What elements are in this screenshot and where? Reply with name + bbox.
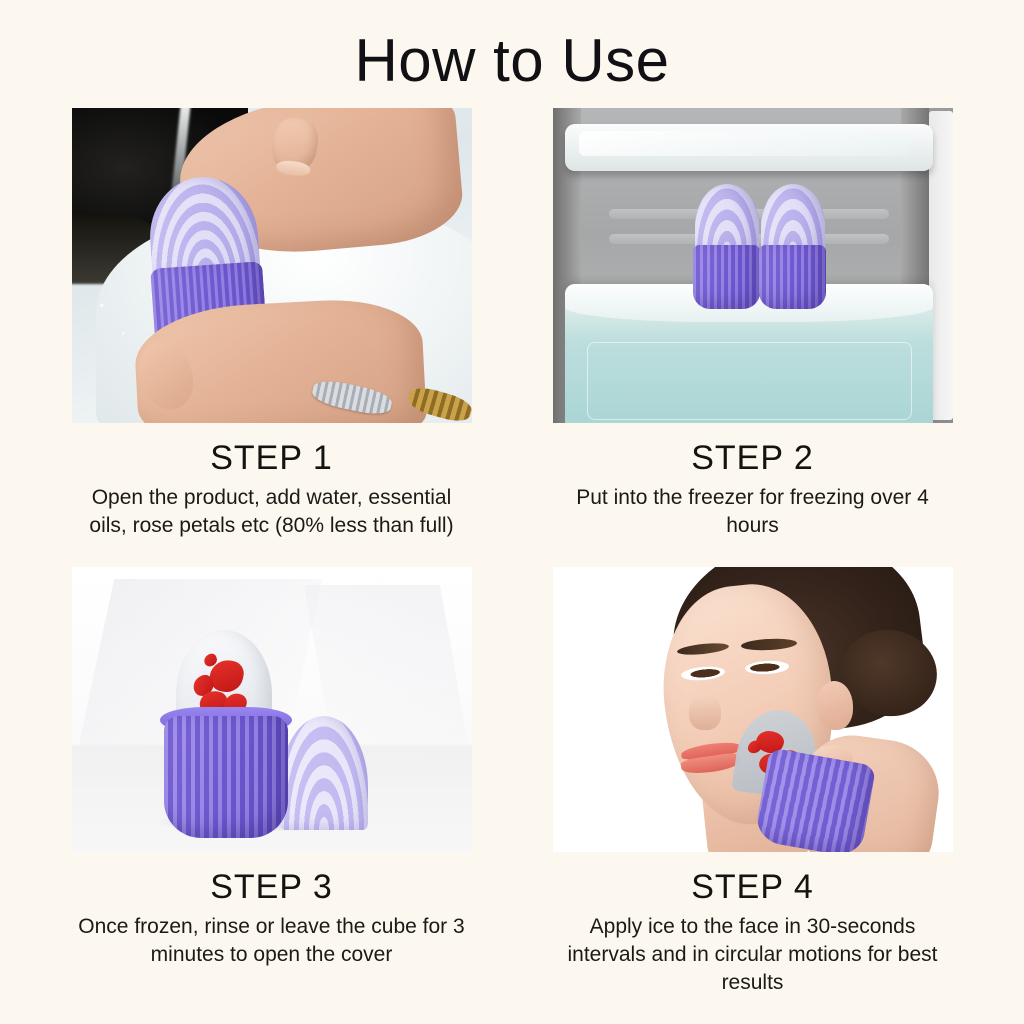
- step-1-description: Open the product, add water, essential o…: [76, 484, 468, 539]
- step-1-image: [72, 108, 472, 423]
- page-title: How to Use: [0, 0, 1024, 91]
- step-3-title: STEP 3: [72, 868, 472, 907]
- roller-base: [759, 245, 826, 309]
- step-card-4: STEP 4 Apply ice to the face in 30-secon…: [553, 567, 953, 996]
- step-card-1: STEP 1 Open the product, add water, esse…: [72, 108, 472, 539]
- steps-row-bottom: STEP 3 Once frozen, rinse or leave the c…: [0, 567, 1024, 996]
- model-nose: [689, 696, 721, 730]
- step-4-image: [553, 567, 953, 852]
- roller-base: [693, 245, 760, 309]
- step-4-title: STEP 4: [553, 868, 953, 907]
- step-card-3: STEP 3 Once frozen, rinse or leave the c…: [72, 567, 472, 996]
- roller-base: [753, 747, 876, 853]
- model-ear: [817, 681, 853, 729]
- step-2-description: Put into the freezer for freezing over 4…: [557, 484, 949, 539]
- drawer-front-panel: [587, 342, 913, 419]
- step-4-description: Apply ice to the face in 30-seconds inte…: [557, 913, 949, 996]
- step-2-title: STEP 2: [553, 439, 953, 478]
- step-card-2: STEP 2 Put into the freezer for freezing…: [553, 108, 953, 539]
- steps-row-top: STEP 1 Open the product, add water, esse…: [0, 108, 1024, 539]
- ice-roller-left: [695, 184, 759, 307]
- roller-base: [164, 716, 288, 839]
- fridge-glass-shelf: [565, 124, 933, 171]
- step-2-image: [553, 108, 953, 423]
- roller-cap: [761, 184, 825, 253]
- how-to-use-infographic: How to Use: [0, 0, 1024, 1024]
- rose-petal: [745, 739, 762, 754]
- step-3-description: Once frozen, rinse or leave the cube for…: [76, 913, 468, 968]
- roller-cap: [695, 184, 759, 253]
- step-3-image: [72, 567, 472, 852]
- steps-grid: STEP 1 Open the product, add water, esse…: [0, 108, 1024, 997]
- step-1-title: STEP 1: [72, 439, 472, 478]
- ice-roller-right: [761, 184, 825, 307]
